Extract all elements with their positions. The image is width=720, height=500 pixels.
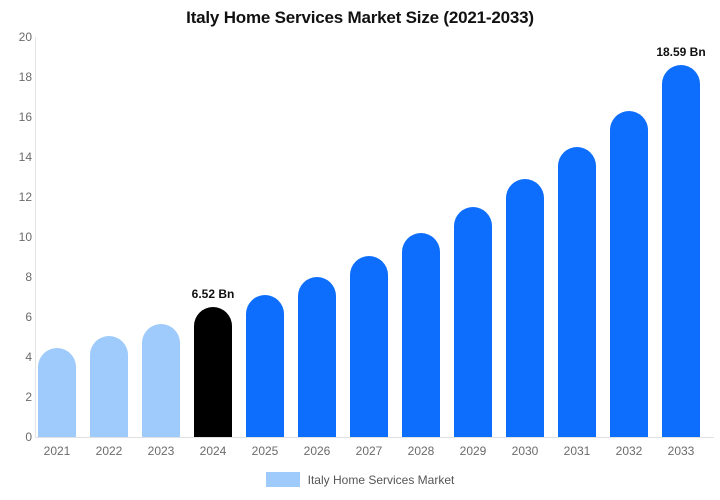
bar-group[interactable] <box>38 348 76 437</box>
bar-group[interactable] <box>506 179 544 437</box>
bar-group[interactable] <box>662 65 700 437</box>
bar-2030[interactable] <box>506 179 544 437</box>
y-axis-line <box>35 37 36 437</box>
y-axis-tick-label: 6 <box>4 311 32 323</box>
bar-2022[interactable] <box>90 336 128 437</box>
bar-2031[interactable] <box>558 147 596 437</box>
x-axis-tick-label: 2032 <box>603 444 655 458</box>
bar-group[interactable] <box>350 256 388 437</box>
x-axis-tick-label: 2022 <box>83 444 135 458</box>
x-axis-tick-label: 2026 <box>291 444 343 458</box>
y-axis-tick-label: 16 <box>4 111 32 123</box>
x-axis-tick-label: 2033 <box>655 444 707 458</box>
chart-legend: Italy Home Services Market <box>0 472 720 487</box>
bar-2023[interactable] <box>142 324 180 437</box>
bar-value-label: 6.52 Bn <box>163 287 263 301</box>
chart-container: Italy Home Services Market Size (2021-20… <box>0 0 720 500</box>
y-axis-tick-label: 18 <box>4 71 32 83</box>
bar-group[interactable] <box>142 324 180 437</box>
x-axis-tick-label: 2027 <box>343 444 395 458</box>
bar-group[interactable] <box>194 307 232 437</box>
chart-title: Italy Home Services Market Size (2021-20… <box>0 8 720 28</box>
y-axis: 02468101214161820 <box>0 0 32 500</box>
bar-value-label: 18.59 Bn <box>631 45 720 59</box>
bar-2027[interactable] <box>350 256 388 437</box>
bar-2025[interactable] <box>246 295 284 437</box>
bar-2021[interactable] <box>38 348 76 437</box>
bar-2026[interactable] <box>298 277 336 437</box>
bar-2029[interactable] <box>454 207 492 437</box>
x-axis-tick-label: 2029 <box>447 444 499 458</box>
y-axis-tick-label: 20 <box>4 31 32 43</box>
x-axis-line <box>35 437 714 438</box>
bar-group[interactable] <box>454 207 492 437</box>
y-axis-tick-label: 2 <box>4 391 32 403</box>
bar-group[interactable] <box>402 233 440 437</box>
x-axis-tick-label: 2025 <box>239 444 291 458</box>
bar-2028[interactable] <box>402 233 440 437</box>
legend-label: Italy Home Services Market <box>308 473 455 487</box>
x-axis-tick-label: 2023 <box>135 444 187 458</box>
bar-2024[interactable] <box>194 307 232 437</box>
bar-group[interactable] <box>90 336 128 437</box>
y-axis-tick-label: 8 <box>4 271 32 283</box>
bar-2033[interactable] <box>662 65 700 437</box>
bar-2032[interactable] <box>610 111 648 437</box>
x-axis-tick-label: 2024 <box>187 444 239 458</box>
y-axis-tick-label: 12 <box>4 191 32 203</box>
x-axis-tick-label: 2021 <box>31 444 83 458</box>
y-axis-tick-label: 14 <box>4 151 32 163</box>
x-axis-tick-label: 2028 <box>395 444 447 458</box>
bar-group[interactable] <box>558 147 596 437</box>
bar-group[interactable] <box>246 295 284 437</box>
y-axis-tick-label: 4 <box>4 351 32 363</box>
y-axis-tick-label: 10 <box>4 231 32 243</box>
bar-group[interactable] <box>298 277 336 437</box>
x-axis-tick-label: 2030 <box>499 444 551 458</box>
legend-swatch-icon <box>266 472 300 487</box>
x-axis-tick-label: 2031 <box>551 444 603 458</box>
bar-group[interactable] <box>610 111 648 437</box>
y-axis-tick-label: 0 <box>4 431 32 443</box>
